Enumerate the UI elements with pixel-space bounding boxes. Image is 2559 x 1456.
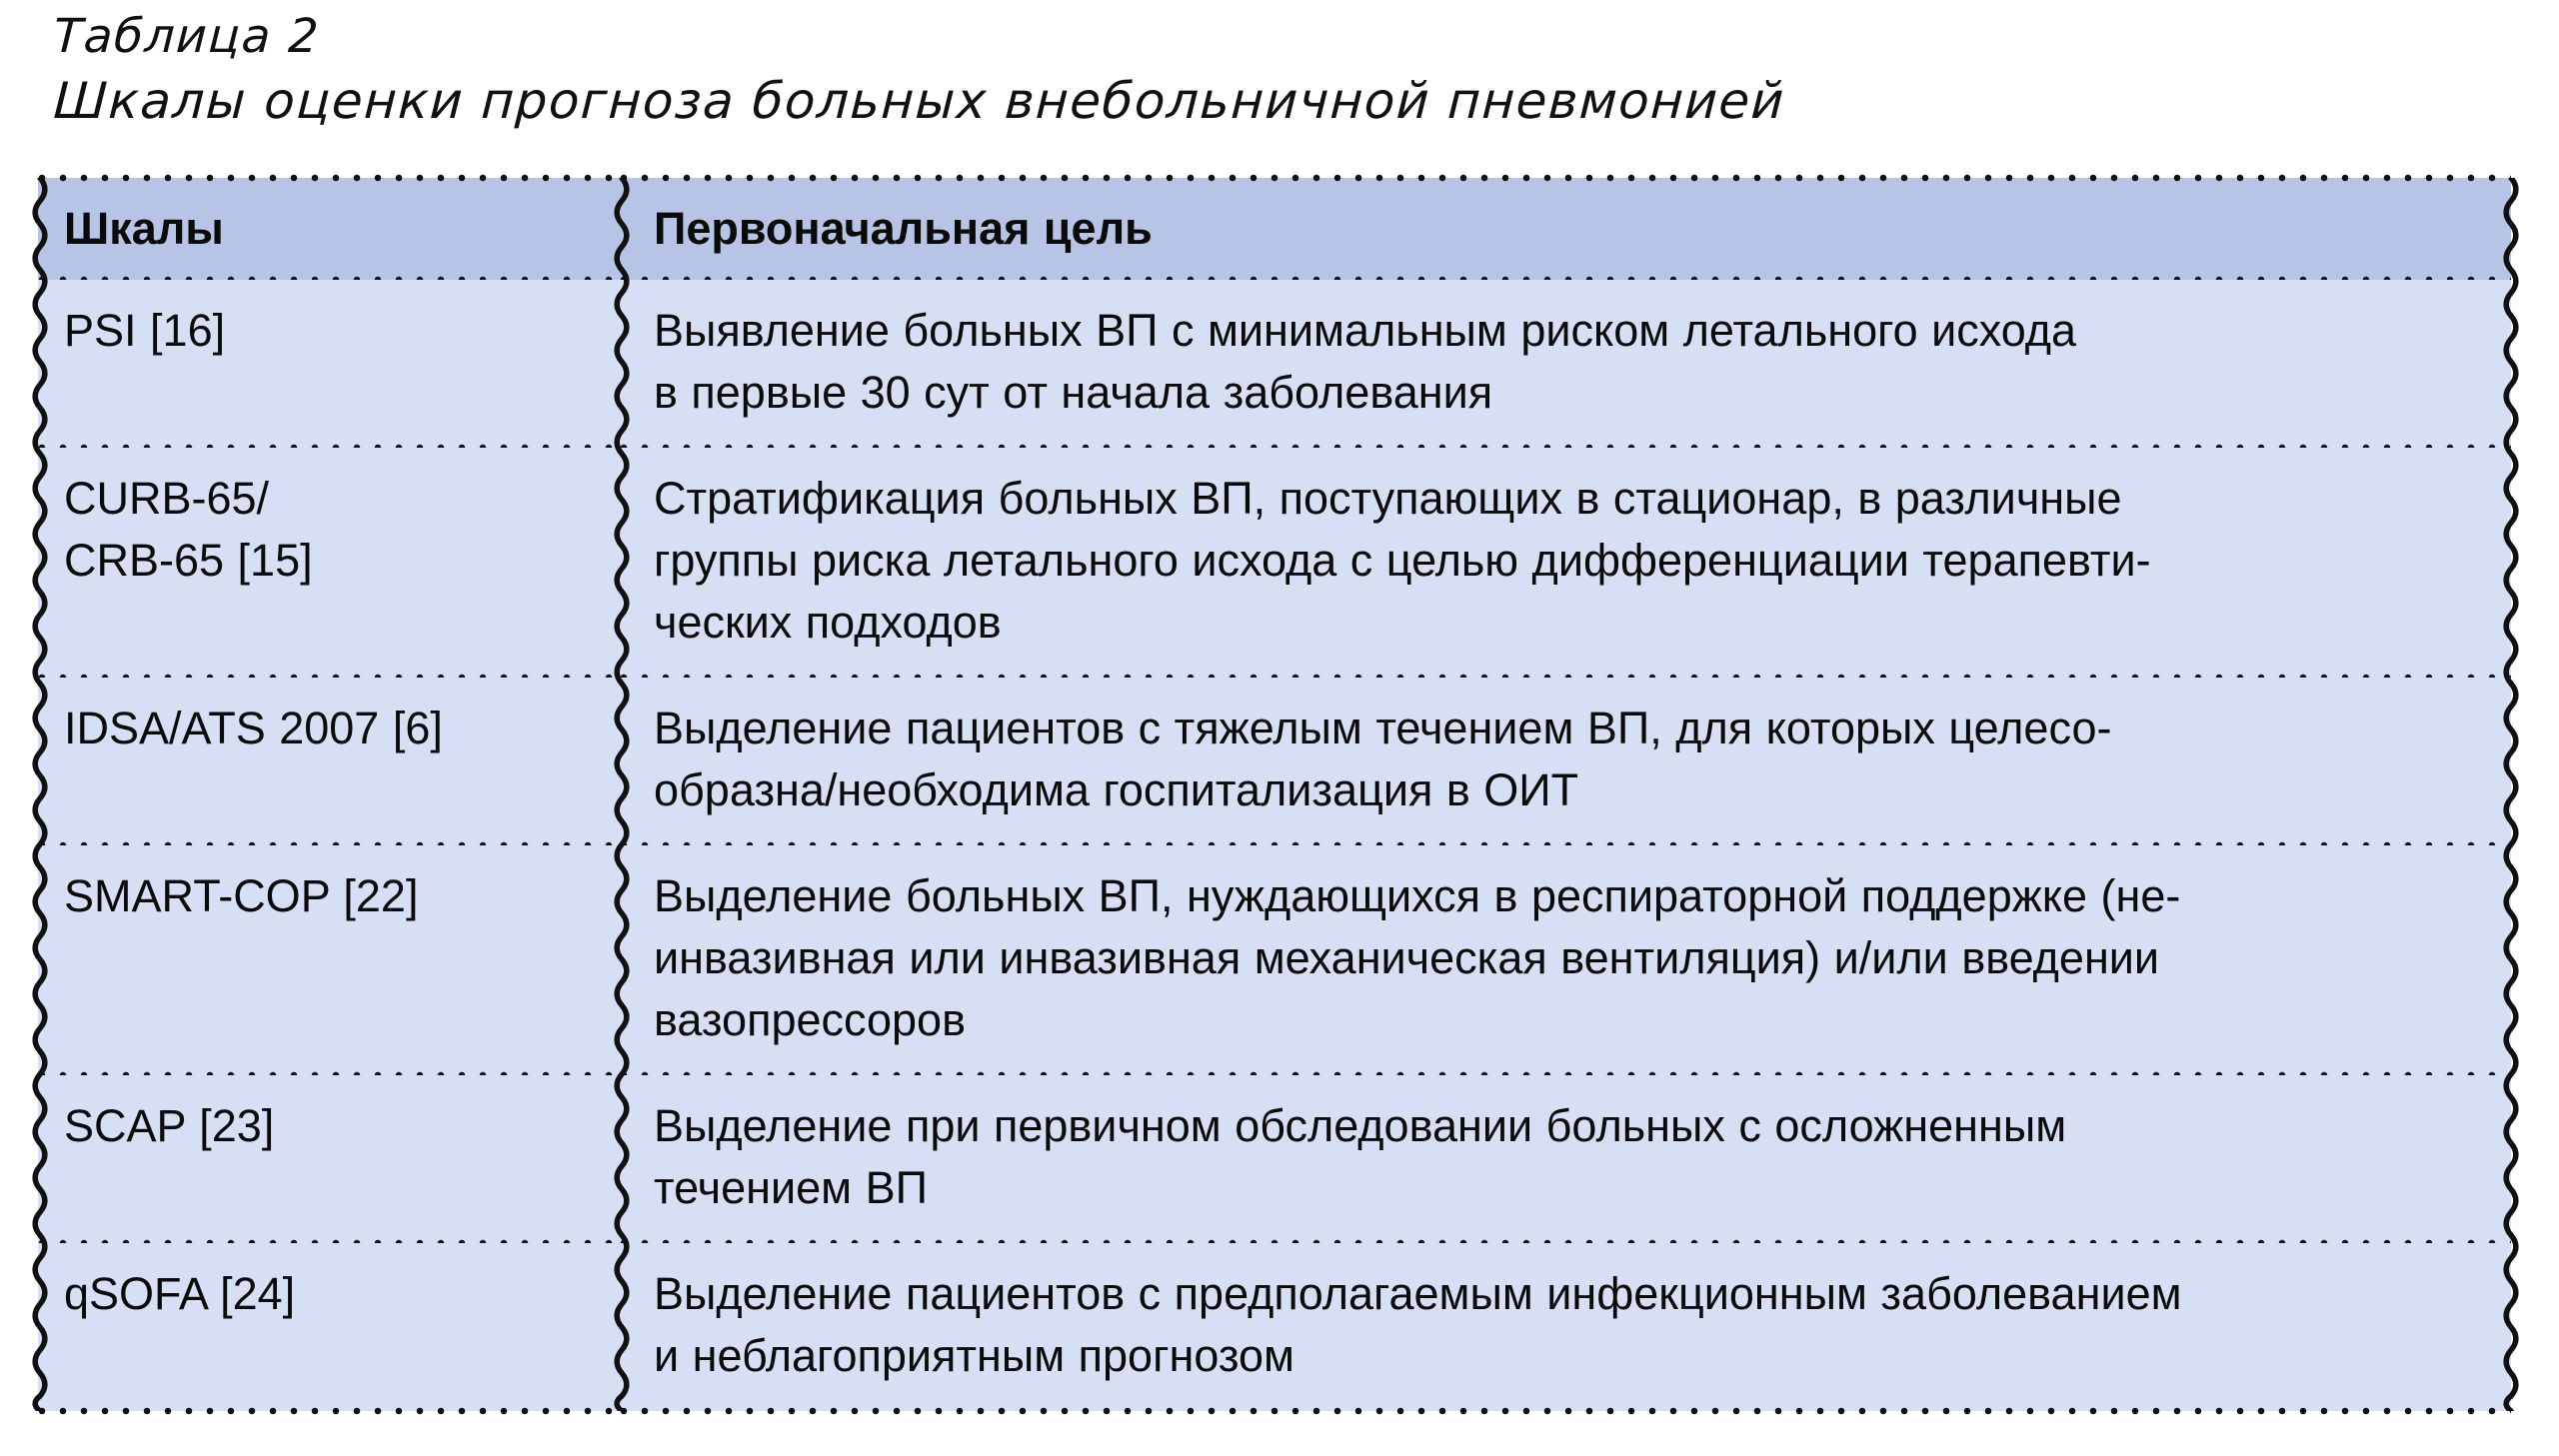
cell-goal-description: Выделение при первичном обследовании бол…	[620, 1075, 2511, 1243]
scale-name-line: CRB-65 [15]	[64, 530, 594, 592]
goal-description-line: и неблагоприятным прогнозом	[654, 1325, 2481, 1387]
cell-goal-description: Стратификация больных ВП, поступающих в …	[620, 448, 2511, 678]
scale-name-text: qSOFA [24]	[38, 1243, 620, 1349]
goal-description-line: образна/необходима госпитализация в ОИТ	[654, 759, 2481, 821]
scale-name-line: IDSA/ATS 2007 [6]	[64, 698, 594, 759]
table-caption: Таблица 2 Шкалы оценки прогноза больных …	[52, 6, 2511, 134]
table-row: SMART-COP [22]Выделение больных ВП, нужд…	[38, 845, 2511, 1075]
scale-name-text: SMART-COP [22]	[38, 845, 620, 951]
scale-name-line: SMART-COP [22]	[64, 865, 594, 927]
cell-scale-name: CURB-65/CRB-65 [15]	[38, 448, 620, 678]
scales-table-container: Шкалы Первоначальная цель PSI [16]Выявле…	[38, 178, 2511, 1411]
goal-description-line: Выделение пациентов с тяжелым течением В…	[654, 698, 2481, 759]
table-body: PSI [16]Выявление больных ВП с минимальн…	[38, 280, 2511, 1411]
goal-description-line: Выделение при первичном обследовании бол…	[654, 1095, 2481, 1157]
table-number-label: Таблица 2	[52, 6, 2514, 68]
cell-scale-name: qSOFA [24]	[38, 1243, 620, 1411]
table-header-row: Шкалы Первоначальная цель	[38, 178, 2511, 280]
goal-description-text: Выделение пациентов с предполагаемым инф…	[620, 1243, 2511, 1411]
scale-name-line: SCAP [23]	[64, 1095, 594, 1157]
goal-description-line: течением ВП	[654, 1157, 2481, 1219]
scales-table: Шкалы Первоначальная цель PSI [16]Выявле…	[38, 178, 2511, 1411]
document-page: Таблица 2 Шкалы оценки прогноза больных …	[0, 0, 2559, 1456]
goal-description-line: вазопрессоров	[654, 989, 2481, 1051]
scale-name-text: PSI [16]	[38, 280, 620, 386]
cell-scale-name: SMART-COP [22]	[38, 845, 620, 1075]
column-header-goal: Первоначальная цель	[620, 178, 2511, 280]
cell-scale-name: PSI [16]	[38, 280, 620, 448]
scale-name-line: qSOFA [24]	[64, 1263, 594, 1325]
scale-name-line: CURB-65/	[64, 468, 594, 530]
scale-name-text: CURB-65/CRB-65 [15]	[38, 448, 620, 616]
goal-description-line: Выявление больных ВП с минимальным риско…	[654, 300, 2481, 362]
column-header-goal-label: Первоначальная цель	[620, 178, 2511, 280]
page-margin-right	[2517, 178, 2551, 1411]
cell-goal-description: Выделение пациентов с предполагаемым инф…	[620, 1243, 2511, 1411]
goal-description-text: Выделение пациентов с тяжелым течением В…	[620, 678, 2511, 845]
cell-goal-description: Выделение пациентов с тяжелым течением В…	[620, 678, 2511, 845]
goal-description-line: инвазивная или инвазивная механическая в…	[654, 927, 2481, 989]
goal-description-text: Стратификация больных ВП, поступающих в …	[620, 448, 2511, 678]
row-separator-dotted	[38, 1407, 620, 1415]
table-title: Шкалы оценки прогноза больных внебольнич…	[52, 68, 2514, 134]
goal-description-line: Стратификация больных ВП, поступающих в …	[654, 468, 2481, 530]
scale-name-text: IDSA/ATS 2007 [6]	[38, 678, 620, 783]
goal-description-line: ческих подходов	[654, 592, 2481, 654]
goal-description-line: в первые 30 сут от начала заболевания	[654, 362, 2481, 424]
column-header-scale: Шкалы	[38, 178, 620, 280]
page-margin-left	[0, 178, 32, 1411]
goal-description-line: Выделение больных ВП, нуждающихся в респ…	[654, 865, 2481, 927]
cell-goal-description: Выделение больных ВП, нуждающихся в респ…	[620, 845, 2511, 1075]
column-header-scale-label: Шкалы	[38, 178, 620, 280]
table-row: SCAP [23]Выделение при первичном обследо…	[38, 1075, 2511, 1243]
table-row: PSI [16]Выявление больных ВП с минимальн…	[38, 280, 2511, 448]
table-row: qSOFA [24]Выделение пациентов с предпола…	[38, 1243, 2511, 1411]
scale-name-text: SCAP [23]	[38, 1075, 620, 1181]
goal-description-line: Выделение пациентов с предполагаемым инф…	[654, 1263, 2481, 1325]
cell-scale-name: SCAP [23]	[38, 1075, 620, 1243]
goal-description-line: группы риска летального исхода с целью д…	[654, 530, 2481, 592]
cell-goal-description: Выявление больных ВП с минимальным риско…	[620, 280, 2511, 448]
scale-name-line: PSI [16]	[64, 300, 594, 362]
table-row: CURB-65/CRB-65 [15]Стратификация больных…	[38, 448, 2511, 678]
goal-description-text: Выделение больных ВП, нуждающихся в респ…	[620, 845, 2511, 1075]
goal-description-text: Выявление больных ВП с минимальным риско…	[620, 280, 2511, 448]
table-row: IDSA/ATS 2007 [6]Выделение пациентов с т…	[38, 678, 2511, 845]
goal-description-text: Выделение при первичном обследовании бол…	[620, 1075, 2511, 1243]
cell-scale-name: IDSA/ATS 2007 [6]	[38, 678, 620, 845]
